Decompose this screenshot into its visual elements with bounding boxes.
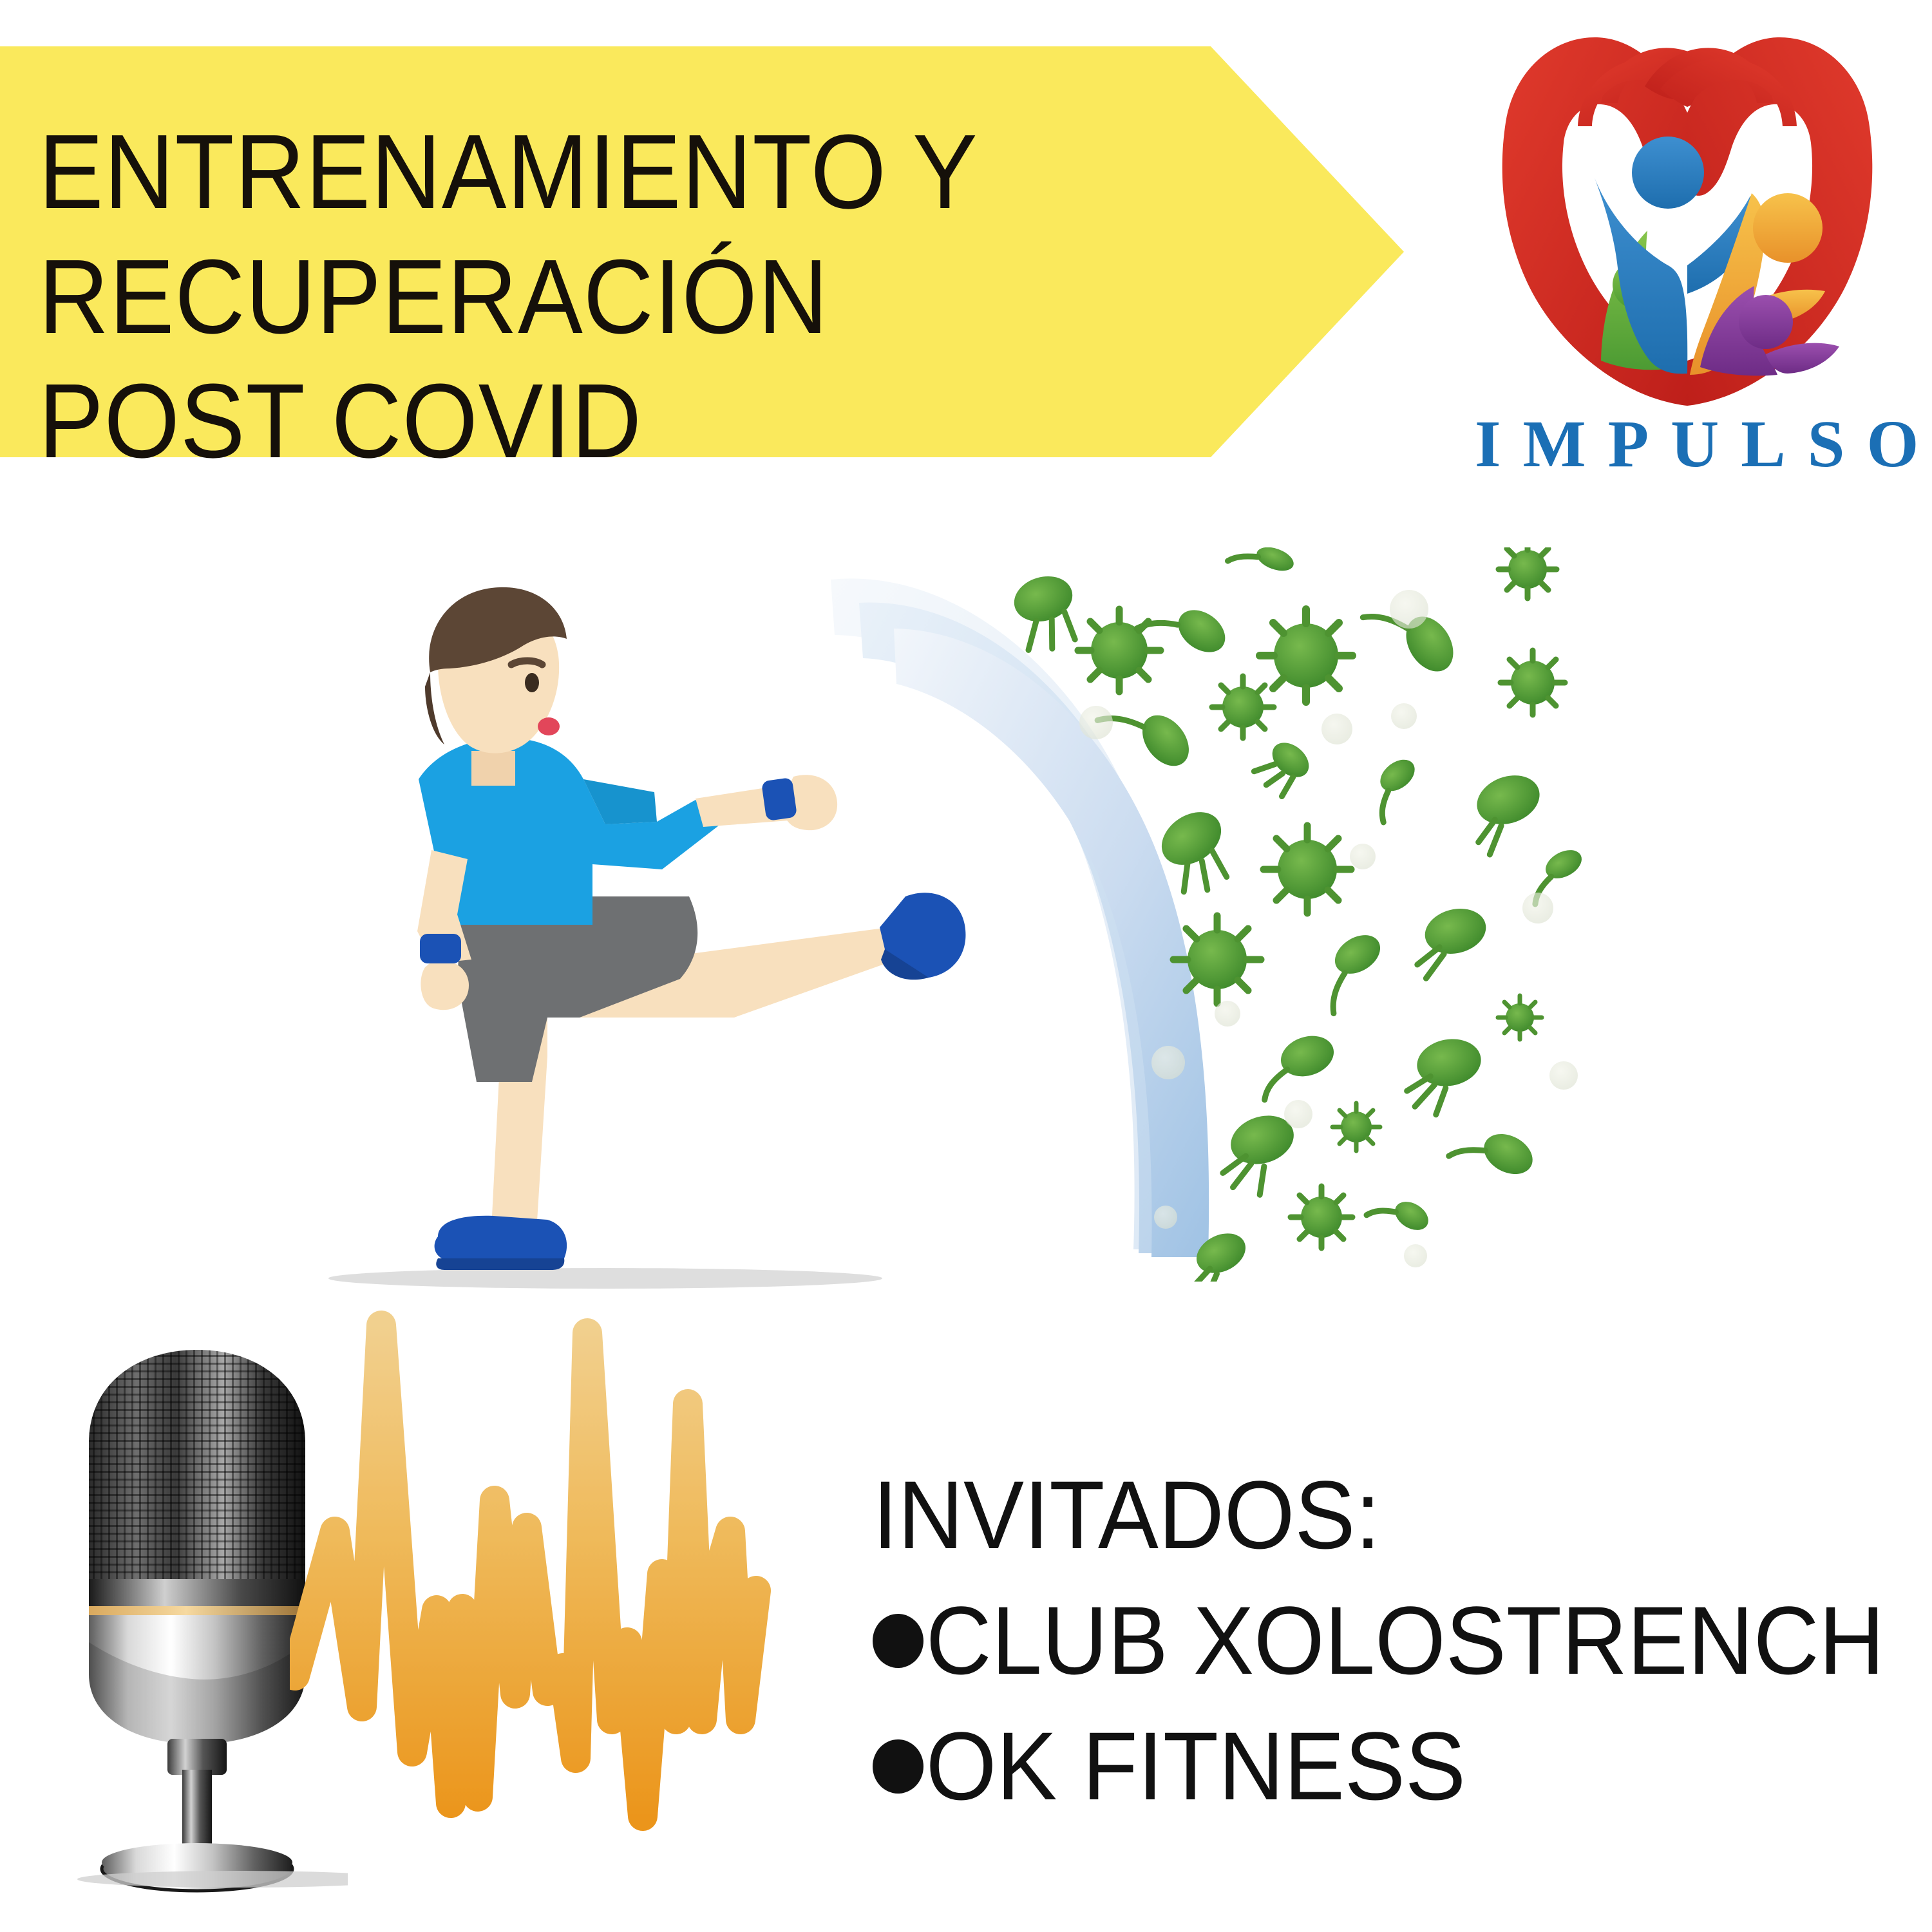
- hands-heart-people-icon: [1475, 0, 1900, 412]
- list-item: OK FITNESS: [873, 1703, 1866, 1829]
- guests-heading: INVITADOS:: [873, 1452, 1866, 1578]
- impulso-logo: IMPULSO: [1475, 0, 1926, 509]
- illustration-scene: [245, 567, 1932, 1365]
- audio-waveform-icon: [290, 1307, 779, 1887]
- guests-block: INVITADOS: CLUB XOLOSTRENCH OK FITNESS: [873, 1452, 1866, 1829]
- bullet-icon: [873, 1614, 923, 1668]
- logo-wordmark: IMPULSO: [1475, 406, 1932, 482]
- page-title: ENTRENAMIENTO Y RECUPERACIÓN POST COVID: [39, 109, 1105, 484]
- list-item: CLUB XOLOSTRENCH: [873, 1578, 1866, 1703]
- poster-canvas: ENTRENAMIENTO Y RECUPERACIÓN POST COVID: [0, 0, 1932, 1932]
- bullet-icon: [873, 1739, 923, 1794]
- man-kicking-icon: [245, 567, 1082, 1365]
- germs-bacteria-icon: [1005, 547, 1932, 1282]
- guest-name: OK FITNESS: [926, 1703, 1466, 1829]
- guest-name: CLUB XOLOSTRENCH: [926, 1578, 1885, 1703]
